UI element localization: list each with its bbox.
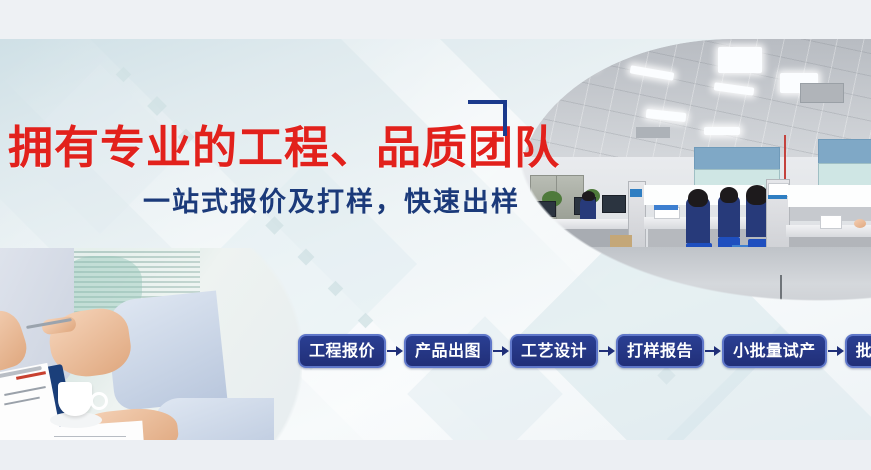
text-line (54, 436, 126, 437)
worker-hair (688, 189, 708, 207)
monitor (536, 201, 556, 217)
partition-label (630, 189, 642, 197)
worker-hair (720, 187, 738, 203)
ceiling-vent (800, 83, 844, 103)
wall-pipe (784, 135, 786, 181)
process-step-5[interactable]: 小批量试产 (722, 334, 827, 368)
process-step-1[interactable]: 工程报价 (298, 334, 386, 368)
coffee-cup (58, 382, 92, 416)
process-flow: 工程报价 产品出图 工艺设计 打样报告 小批量试产 批量量产 (298, 334, 871, 368)
cup-handle (90, 392, 108, 410)
arrow-right-icon (704, 344, 722, 358)
window-blind (818, 139, 871, 165)
monitor (602, 195, 626, 213)
arrow-right-icon (492, 344, 510, 358)
worker-hand (854, 219, 866, 228)
office-photo (518, 39, 871, 339)
desk (526, 219, 636, 229)
process-step-2[interactable]: 产品出图 (404, 334, 492, 368)
worker-hair (582, 191, 595, 201)
meeting-photo-image (0, 248, 302, 470)
arrow-right-icon (386, 344, 404, 358)
arrow-right-icon (827, 344, 845, 358)
process-step-4[interactable]: 打样报告 (616, 334, 704, 368)
corner-bracket-icon (468, 100, 507, 136)
page-subtitle: 一站式报价及打样，快速出样 (143, 183, 520, 223)
paper-sheet (820, 215, 842, 229)
bottom-band (0, 440, 871, 470)
top-band (0, 0, 871, 39)
office-photo-image (518, 39, 871, 339)
ceiling-lamp (718, 47, 762, 73)
meeting-photo (0, 248, 302, 470)
ceiling-lamp (704, 127, 740, 135)
window-blind (694, 147, 780, 171)
partition-sign-bar (768, 195, 787, 199)
ceiling-vent (636, 127, 670, 138)
cable (780, 275, 782, 315)
promo-banner: 拥有专业的工程、品质团队 一站式报价及打样，快速出样 工程报价 产品出图 工艺设… (0, 0, 871, 470)
floor (518, 247, 871, 339)
bench-light-shelf (788, 185, 871, 207)
arrow-right-icon (598, 344, 616, 358)
process-step-3[interactable]: 工艺设计 (510, 334, 598, 368)
bench-tray-lid (654, 205, 678, 210)
worker-hair (746, 185, 768, 205)
process-step-6[interactable]: 批量量产 (845, 334, 871, 368)
